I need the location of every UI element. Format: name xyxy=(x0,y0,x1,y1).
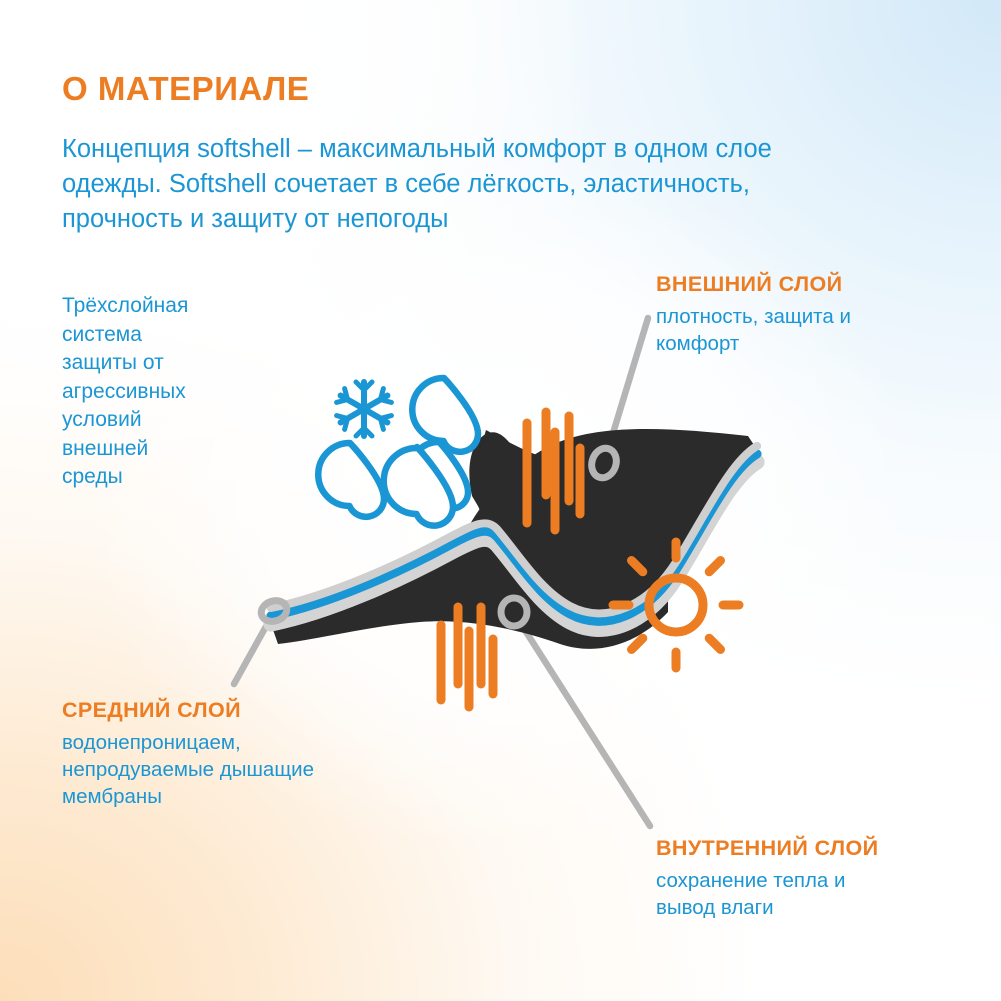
left-note-line-5: условий xyxy=(62,406,302,435)
left-note-line-2: система xyxy=(62,321,302,350)
callout-outer-layer: ВНЕШНИЙ СЛОЙ плотность, защита и комфорт xyxy=(656,272,851,357)
callout-middle-body-line-1: водонепроницаем, xyxy=(62,729,314,756)
callout-outer-body: плотность, защита и комфорт xyxy=(656,303,851,357)
callout-inner-title: ВНУТРЕННИЙ СЛОЙ xyxy=(656,836,878,861)
page-title: О МАТЕРИАЛЕ xyxy=(62,70,309,108)
callout-outer-body-line-1: плотность, защита и xyxy=(656,303,851,330)
callout-middle-body-line-3: мембраны xyxy=(62,783,314,810)
infographic-poster: О МАТЕРИАЛЕ Концепция softshell – максим… xyxy=(0,0,1001,1001)
left-note: Трёхслойная система защиты от агрессивны… xyxy=(62,292,302,492)
intro-line-1: Концепция softshell – максимальный комфо… xyxy=(62,132,952,167)
intro-line-2: одежды. Softshell сочетает в себе лёгкос… xyxy=(62,167,952,202)
callout-inner-body: сохранение тепла и вывод влаги xyxy=(656,867,878,921)
callout-inner-body-line-1: сохранение тепла и xyxy=(656,867,878,894)
left-note-line-6: внешней xyxy=(62,435,302,464)
left-note-line-7: среды xyxy=(62,463,302,492)
callout-outer-body-line-2: комфорт xyxy=(656,330,851,357)
callout-outer-title: ВНЕШНИЙ СЛОЙ xyxy=(656,272,851,297)
callout-middle-body-line-2: непродуваемые дышащие xyxy=(62,756,314,783)
callout-middle-layer: СРЕДНИЙ СЛОЙ водонепроницаем, непродувае… xyxy=(62,698,314,810)
left-note-line-1: Трёхслойная xyxy=(62,292,302,321)
callout-middle-body: водонепроницаем, непродуваемые дышащие м… xyxy=(62,729,314,810)
left-note-line-3: защиты от xyxy=(62,349,302,378)
callout-inner-layer: ВНУТРЕННИЙ СЛОЙ сохранение тепла и вывод… xyxy=(656,836,878,921)
intro-line-3: прочность и защиту от непогоды xyxy=(62,202,952,237)
callout-middle-title: СРЕДНИЙ СЛОЙ xyxy=(62,698,314,723)
left-note-line-4: агрессивных xyxy=(62,378,302,407)
intro-paragraph: Концепция softshell – максимальный комфо… xyxy=(62,132,952,237)
callout-inner-body-line-2: вывод влаги xyxy=(656,894,878,921)
